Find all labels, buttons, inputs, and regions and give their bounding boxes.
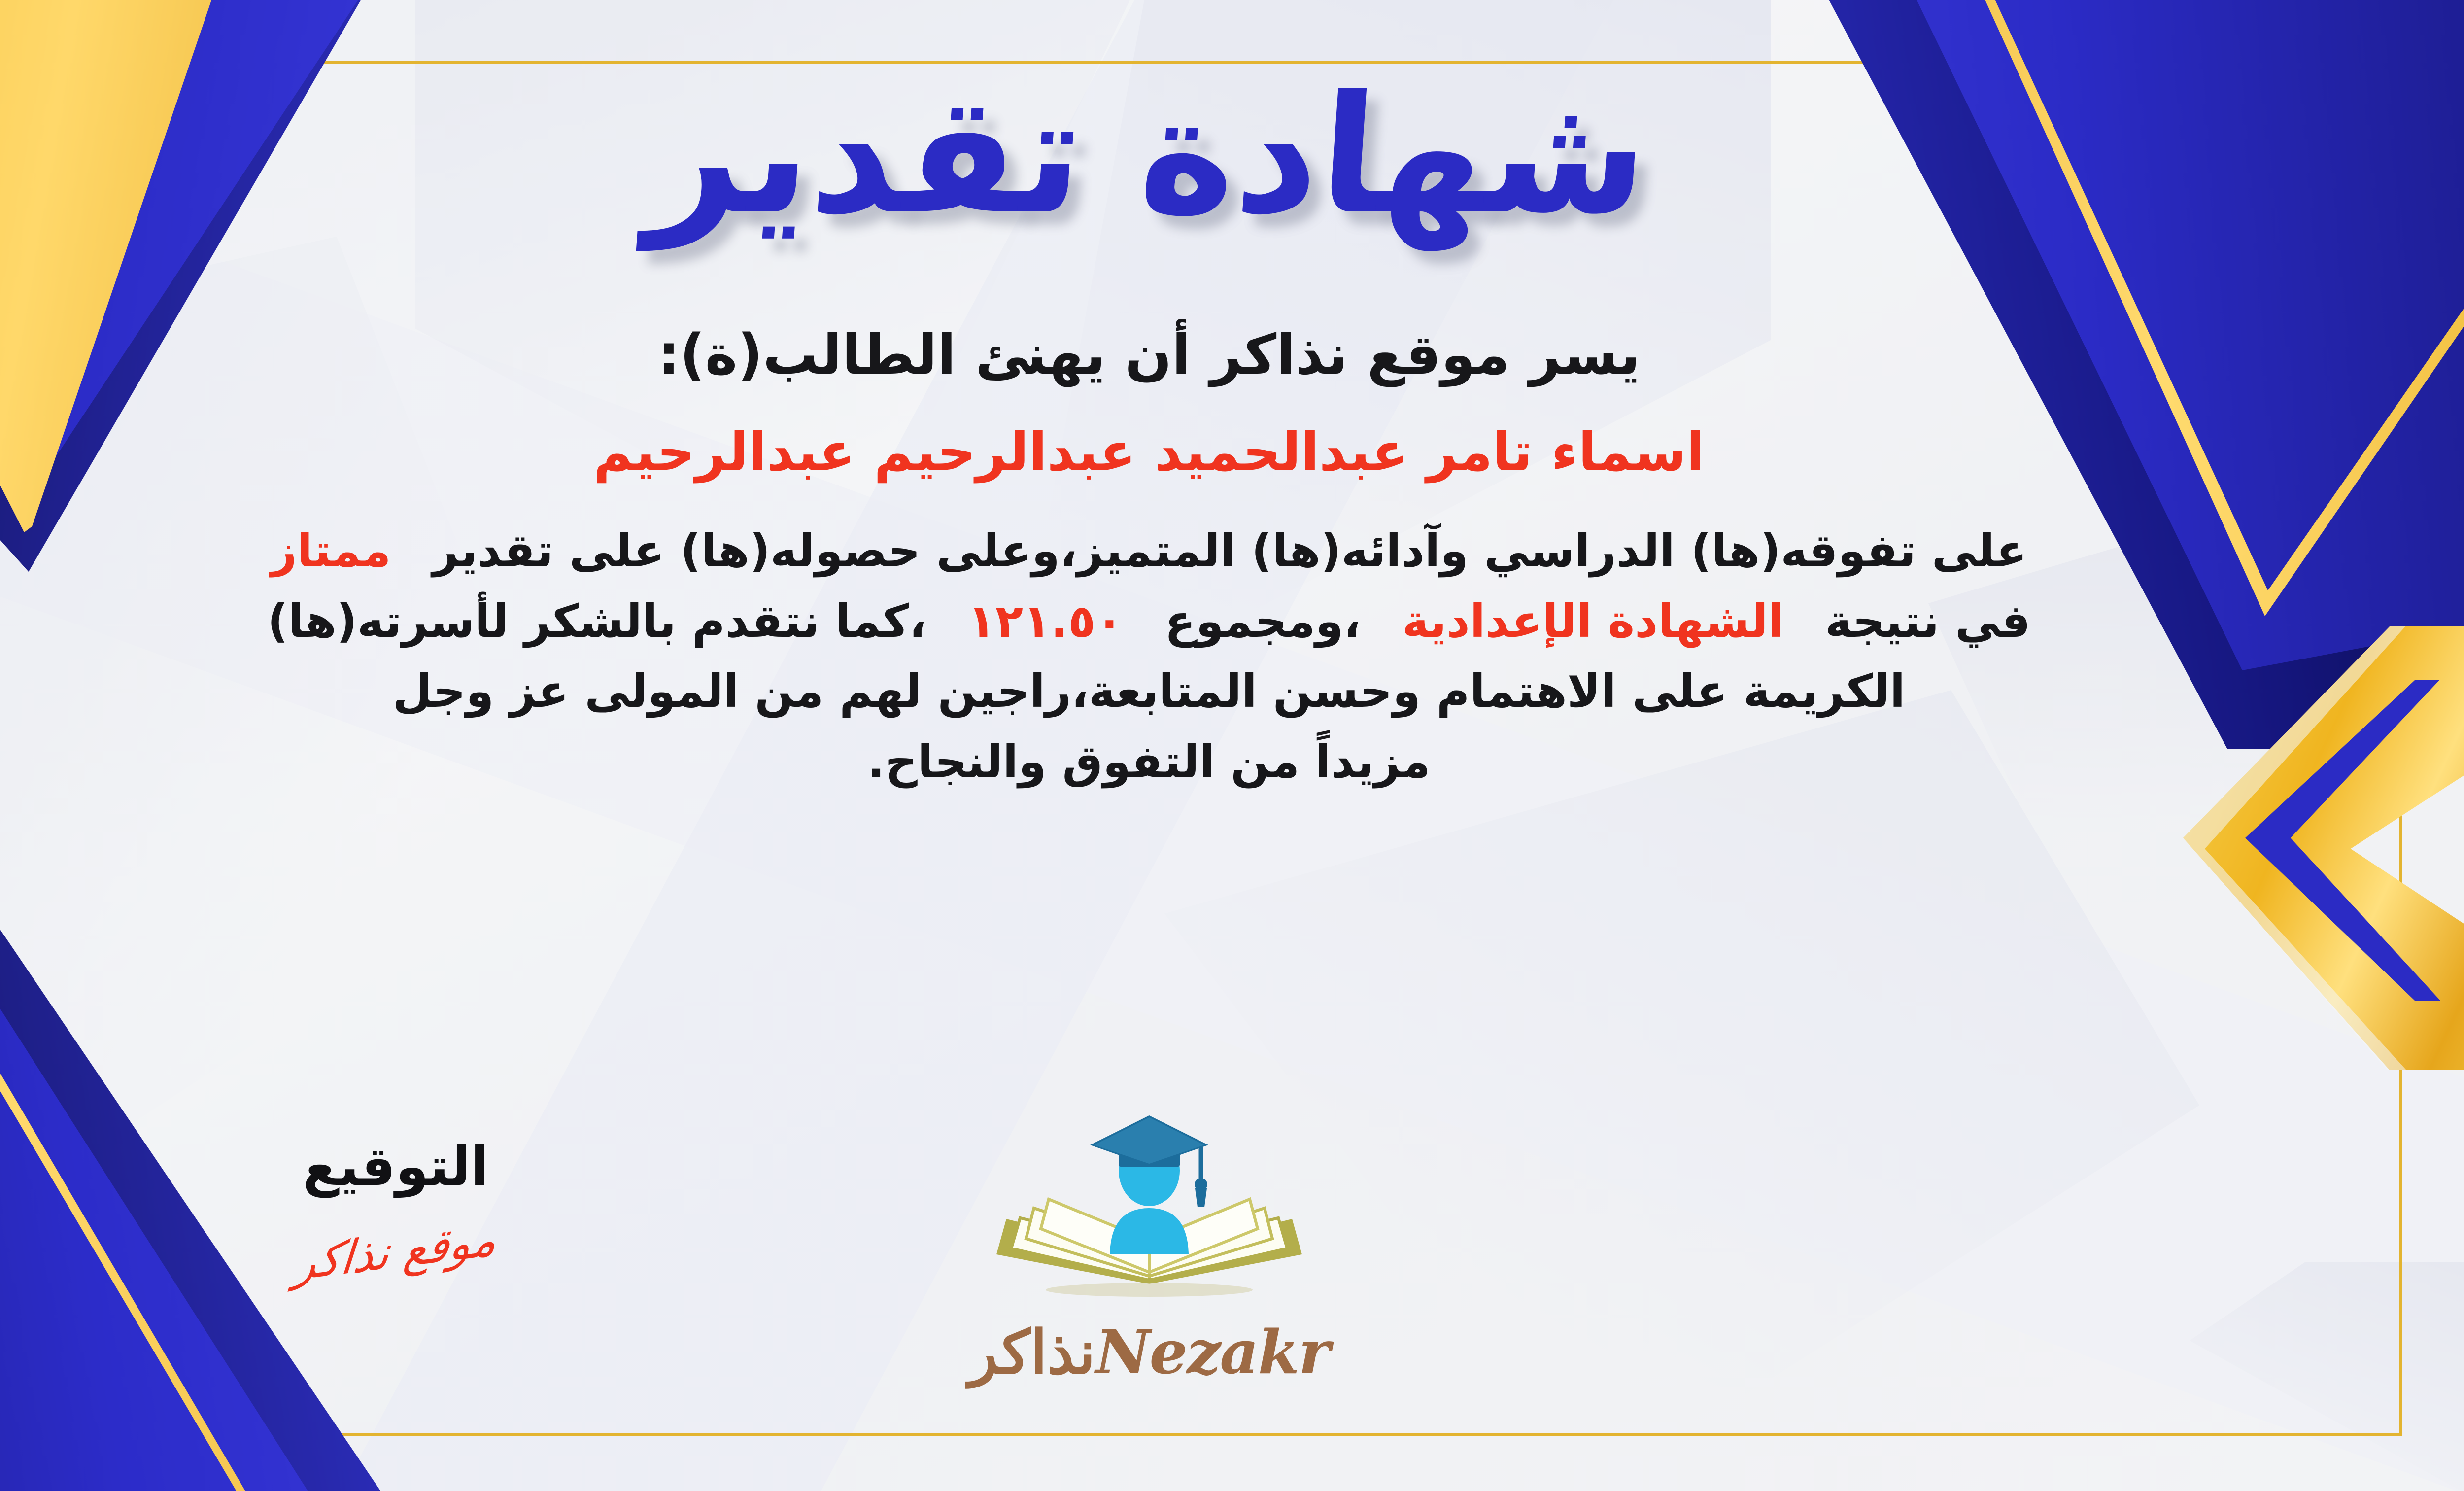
citation-line-2-suffix: ،كما نتقدم بالشكر لأسرته(ها) [268,595,926,648]
greeting-line: يسر موقع نذاكر أن يهنئ الطالب(ة): [102,320,2196,389]
citation-line-2-prefix: في نتيجة [1825,595,2030,648]
grade-value: ممتاز [271,524,391,577]
citation-line-3: الكريمة على الاهتمام وحسن المتابعة،راجين… [102,657,2196,727]
citation-line-2-mid: ،ومجموع [1164,595,1361,648]
total-score-value: ١٢١.٥٠ [968,595,1124,648]
certificate-name-value: الشهادة الإعدادية [1402,595,1783,648]
logo-wordmark: Nezakrنذاكر [947,1317,1351,1387]
signature-label: التوقيع [208,1136,583,1198]
certificate-footer: التوقيع موقع نذاكر [0,1107,2464,1422]
certificate-body: يسر موقع نذاكر أن يهنئ الطالب(ة): اسماء … [102,320,2196,797]
citation-line-1-text: على تفوقه(ها) الدراسي وآدائه(ها) المتميز… [432,524,2027,577]
citation-paragraph: على تفوقه(ها) الدراسي وآدائه(ها) المتميز… [102,516,2196,797]
logo-wordmark-latin: Nezakr [1095,1317,1329,1387]
citation-line-2: في نتيجة الشهادة الإعدادية ،ومجموع ١٢١.٥… [102,587,2196,657]
certificate-title: شهادة تقدير [644,74,1654,237]
graduate-book-icon [977,1107,1322,1314]
nezakr-logo: Nezakrنذاكر [947,1107,1351,1387]
citation-line-4: مزيداً من التفوق والنجاح. [102,727,2196,798]
logo-wordmark-arabic: نذاكر [969,1317,1095,1387]
student-name: اسماء تامر عبدالحميد عبدالرحيم عبدالرحيم [102,419,2196,485]
signature-block: التوقيع موقع نذاكر [208,1136,583,1278]
citation-line-1: على تفوقه(ها) الدراسي وآدائه(ها) المتميز… [102,516,2196,587]
signature-mark: موقع نذاكر [292,1213,499,1291]
certificate-page: شهادة تقدير يسر موقع نذاكر أن يهنئ الطال… [0,0,2464,1491]
